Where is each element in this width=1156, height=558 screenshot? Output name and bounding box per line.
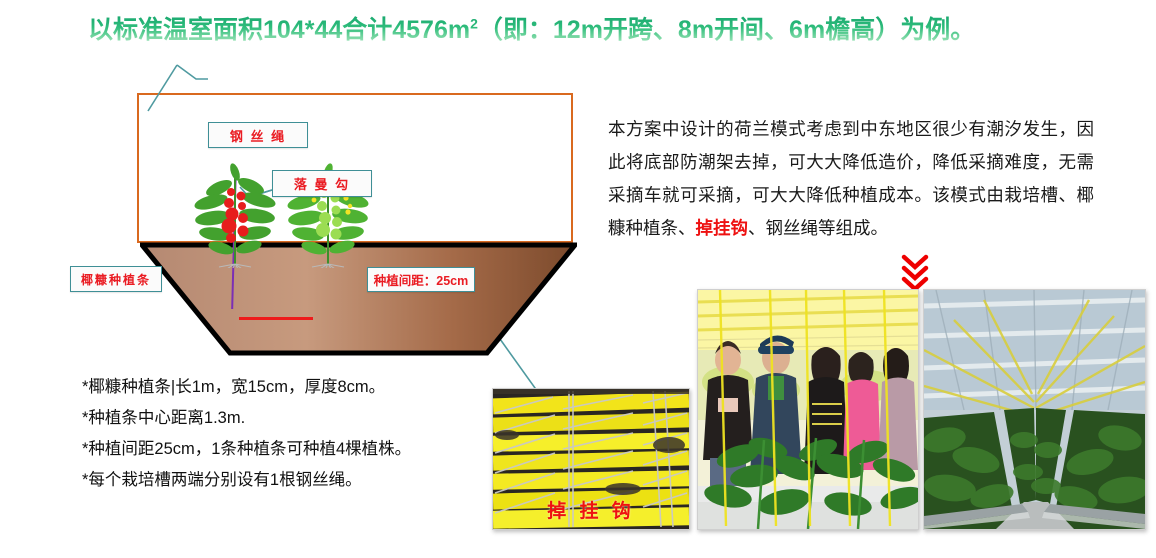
callout-wire-rope: 钢 丝 绳 [208,122,308,148]
page-title: 以标准温室面积104*44合计4576m2（即：12m开跨、8m开间、6m檐高）… [88,10,1088,46]
tomato-plant-green [278,148,378,268]
callout-plant-spacing-label: 种植间距：25cm [374,270,468,289]
list-item: *种植条中心距离1.3m. [82,403,502,434]
paragraph-highlight-term: 掉挂钩 [696,218,749,238]
list-item: *每个栽培槽两端分别设有1根钢丝绳。 [82,465,502,496]
page-title-superscript: 2 [470,16,478,32]
paragraph-part-2: 、钢丝绳等组成。 [748,218,888,238]
photo-greenhouse-visitors [697,289,919,530]
tomato-plant-ripe [185,148,285,268]
list-item: *椰糠种植条|长1m，宽15cm，厚度8cm。 [82,372,502,403]
callout-plant-spacing: 种植间距：25cm [367,267,475,292]
specification-bullet-list: *椰糠种植条|长1m，宽15cm，厚度8cm。 *种植条中心距离1.3m. *种… [82,372,502,496]
double-chevron-down-icon [897,252,933,290]
photo-drop-hooks: 掉 挂 钩 [492,388,690,530]
photo-drop-hooks-caption: 掉 挂 钩 [493,496,689,523]
description-paragraph: 本方案中设计的荷兰模式考虑到中东地区很少有潮汐发生，因此将底部防潮架去掉，可大大… [608,113,1094,245]
callout-wire-rope-label: 钢 丝 绳 [230,126,286,145]
photo-greenhouse-rows [923,289,1146,530]
page-title-main: 以标准温室面积104*44合计4576m [88,16,470,44]
callout-coir-strip-label: 椰糠种植条 [81,271,151,288]
callout-coir-strip: 椰糠种植条 [70,266,162,292]
page-title-tail: （即：12m开跨、8m开间、6m檐高）为例。 [478,16,975,44]
greenhouse-section-diagram: 钢 丝 绳 落 曼 勾 椰糠种植条 种植间距：25cm 栽 培 槽 [0,55,600,375]
list-item: *种植间距25cm，1条种植条可种植4棵植株。 [82,434,502,465]
callout-drop-hook-label: 落 曼 勾 [294,174,350,193]
callout-drop-hook: 落 曼 勾 [272,170,372,197]
plant-spacing-measure-line [239,317,313,320]
